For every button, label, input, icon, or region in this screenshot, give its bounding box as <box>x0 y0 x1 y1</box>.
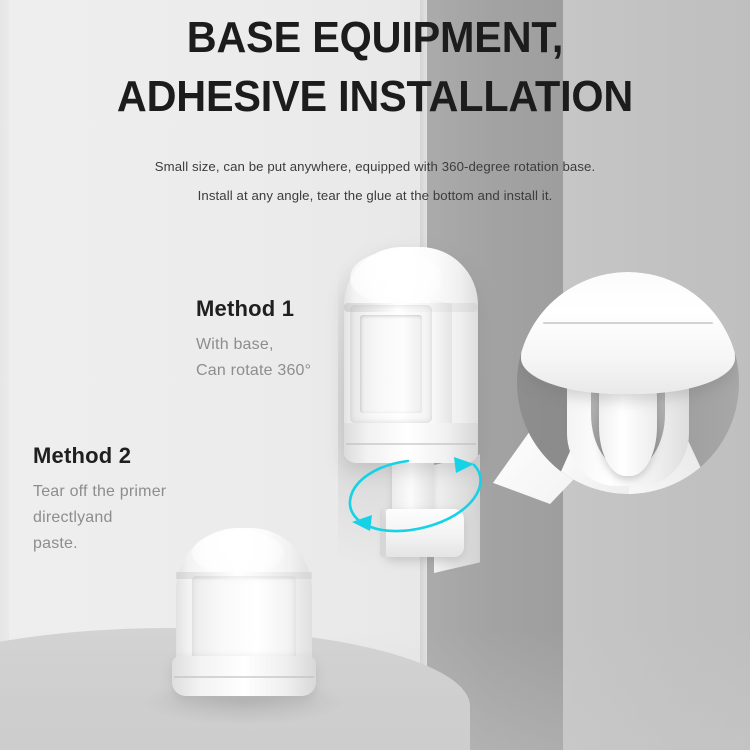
method-2-body-line-2: directlyand <box>33 505 166 531</box>
wall-bracket-plate <box>386 509 464 557</box>
wall-band-far-left <box>0 0 9 750</box>
method-2-title: Method 2 <box>33 442 166 470</box>
sensor-dome-seam <box>344 303 478 312</box>
freestanding-motion-sensor <box>170 528 320 718</box>
ball-joint-base-magnified-callout <box>517 272 739 494</box>
sensor-base-seam <box>346 443 476 445</box>
wall-mounted-motion-sensor <box>330 247 496 567</box>
sensor-dome-highlight <box>350 251 442 305</box>
method-1-body-line-1: With base, <box>196 332 311 358</box>
callout-cap-seam <box>543 322 713 324</box>
method-1-body-line-2: Can rotate 360° <box>196 358 311 384</box>
page-title-line-2: ADHESIVE INSTALLATION <box>23 67 728 126</box>
desk-sensor-dome-highlight <box>192 531 284 575</box>
page-subtitle-line-2: Install at any angle, tear the glue at t… <box>0 181 750 210</box>
page-subtitle: Small size, can be put anywhere, equippe… <box>0 152 750 210</box>
method-1-body: With base, Can rotate 360° <box>196 332 311 384</box>
pir-lens-panel <box>360 315 422 413</box>
method-2-body: Tear off the primer directlyand paste. <box>33 479 166 557</box>
method-2-body-line-3: paste. <box>33 531 166 557</box>
method-1-block: Method 1 With base, Can rotate 360° <box>196 295 311 384</box>
page-subtitle-line-1: Small size, can be put anywhere, equippe… <box>0 152 750 181</box>
page-title: BASE EQUIPMENT, ADHESIVE INSTALLATION <box>23 8 728 126</box>
desk-sensor-base-seam <box>174 676 314 678</box>
method-2-body-line-1: Tear off the primer <box>33 479 166 505</box>
callout-base-cap <box>521 272 735 394</box>
desk-sensor-dome-seam <box>176 572 312 579</box>
desk-sensor-pir-lens <box>192 576 296 660</box>
method-2-block: Method 2 Tear off the primer directlyand… <box>33 442 166 557</box>
callout-circle <box>517 272 739 494</box>
method-1-title: Method 1 <box>196 295 311 323</box>
product-infographic: BASE EQUIPMENT, ADHESIVE INSTALLATION Sm… <box>0 0 750 750</box>
page-title-line-1: BASE EQUIPMENT, <box>187 13 563 62</box>
